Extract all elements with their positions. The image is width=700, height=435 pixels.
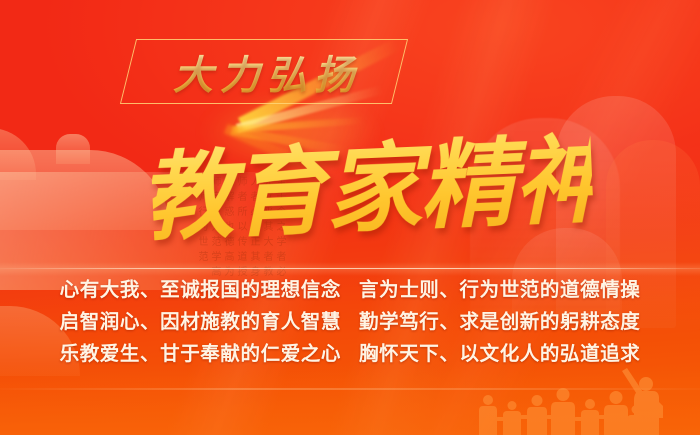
slogan-right: 言为士则、行为世范的道德情操 bbox=[359, 276, 640, 305]
separator-glow bbox=[0, 262, 700, 276]
architecture-silhouette-decor bbox=[56, 134, 90, 164]
separator-line bbox=[0, 268, 700, 269]
poster-banner: 至于今之学者必先立乎其大者教人者必先正其身师者所以传道授业解惑也德高为师身正为范… bbox=[0, 0, 700, 435]
slogan-row: 启智润心、因材施教的育人智慧 勤学笃行、求是创新的躬耕态度 bbox=[30, 308, 670, 337]
headline-label: 大力弘扬 bbox=[128, 39, 400, 104]
slogan-row: 心有大我、至诚报国的理想信念 言为士则、行为世范的道德情操 bbox=[30, 276, 670, 305]
slogan-left: 启智润心、因材施教的育人智慧 bbox=[60, 308, 341, 337]
teacher-and-children-silhouette bbox=[450, 355, 700, 435]
slogan-right: 勤学笃行、求是创新的躬耕态度 bbox=[359, 308, 640, 337]
label-text: 大力弘扬 bbox=[128, 39, 400, 104]
slogan-left: 心有大我、至诚报国的理想信念 bbox=[60, 276, 341, 305]
page-title: 教育家精神 bbox=[149, 99, 595, 262]
slogan-left: 乐教爱生、甘于奉献的仁爱之心 bbox=[60, 340, 341, 369]
